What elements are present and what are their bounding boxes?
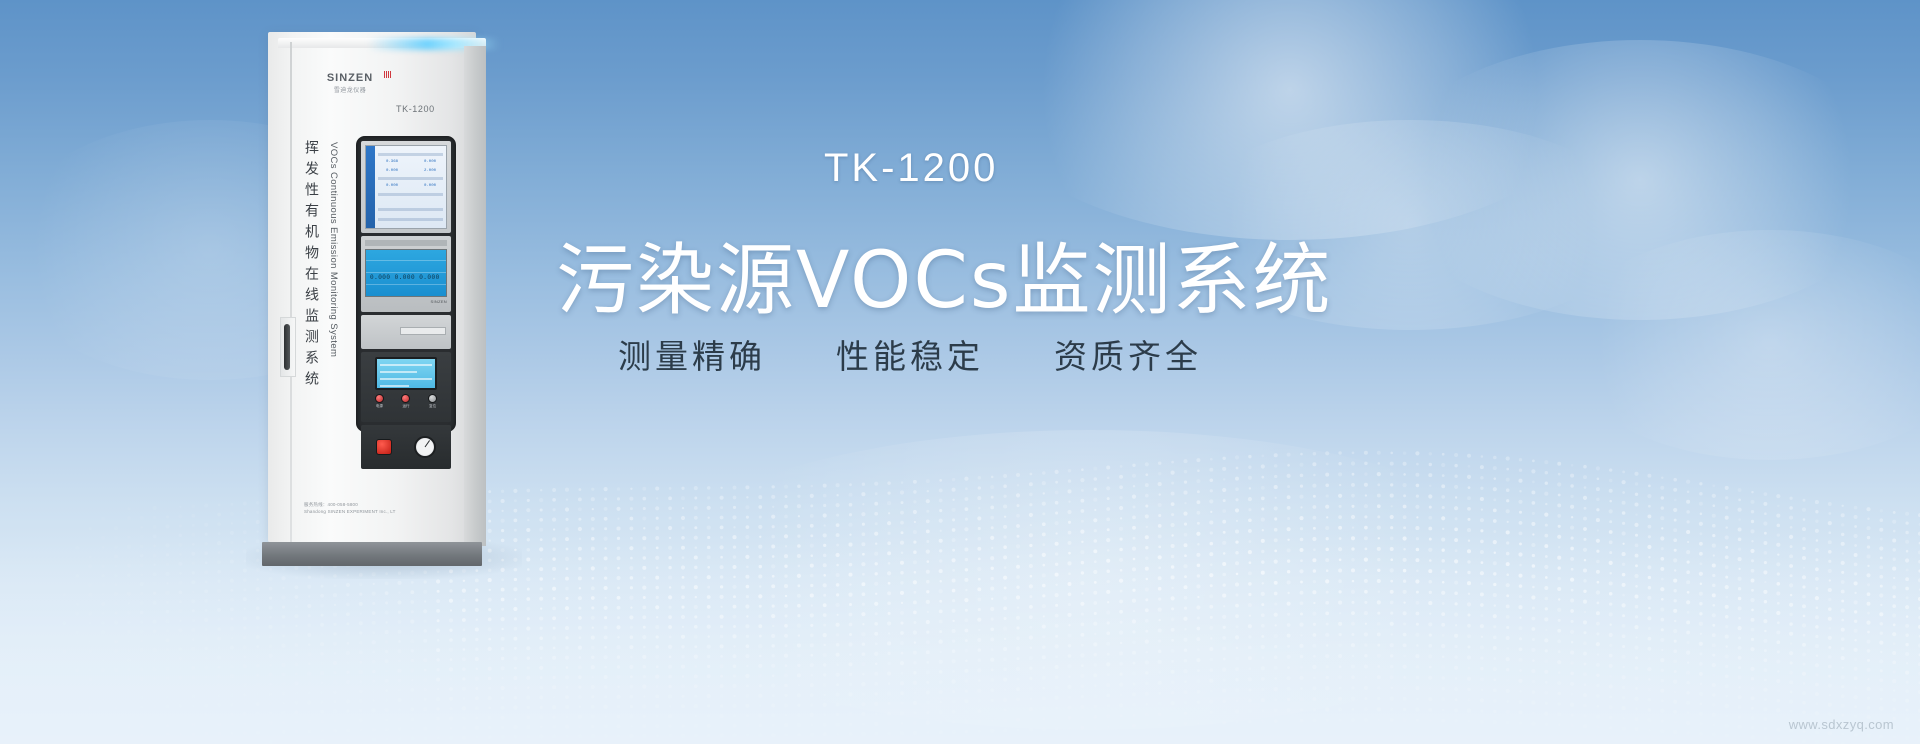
cabinet-brand-logo: SINZEN 雪迪龙仪器	[304, 72, 396, 94]
screen-value: 0.000	[424, 160, 436, 164]
screen-value: 0.000	[424, 184, 436, 188]
feature-tag-list: 测量精确 性能稳定 资质齐全	[618, 330, 1202, 378]
brand-subtitle: 雪迪龙仪器	[304, 85, 396, 94]
emergency-panel	[361, 425, 451, 469]
knob-label: 运行	[401, 404, 410, 409]
gas-analyzer-unit: 0.000 0.000 0.000 SINZEN	[361, 236, 451, 312]
emergency-stop-button[interactable]	[376, 439, 392, 455]
cabinet-footer-text: 服务热线：400-058-5800 Shandong SINZEN EXPERI…	[304, 502, 454, 516]
cabinet-right-edge	[464, 46, 486, 546]
site-watermark: www.sdxzyq.com	[1789, 717, 1894, 732]
cabinet-model-plate: TK-1200	[396, 104, 435, 114]
analyzer-readout: 0.000 0.000 0.000	[370, 274, 440, 281]
run-knob[interactable]	[401, 394, 410, 403]
knob-label: 复位	[428, 404, 437, 409]
instrument-screen-upper: 0.368 0.000 0.000 2.000 0.000 0.000	[365, 145, 447, 229]
screen-value: 0.000	[386, 184, 398, 188]
instrument-bay: 0.368 0.000 0.000 2.000 0.000 0.000	[356, 136, 456, 432]
feature-tag-certification: 资质齐全	[1054, 330, 1202, 378]
screen-value: 0.000	[386, 169, 398, 173]
cabinet-body: SINZEN 雪迪龙仪器 TK-1200 挥发性有机物在线监测系统 VOCs C…	[268, 32, 476, 542]
power-knob[interactable]	[375, 394, 384, 403]
screen-value: 0.368	[386, 160, 398, 164]
product-model-title: TK-1200	[824, 146, 998, 191]
analyzer-label-strip	[365, 240, 447, 246]
knob-label: 电源	[375, 404, 384, 409]
cabinet-footer-line-1: 服务热线：400-058-5800	[304, 502, 454, 509]
analyzer-brand-text: SINZEN	[365, 299, 447, 304]
product-cabinet-image: SINZEN 雪迪龙仪器 TK-1200 挥发性有机物在线监测系统 VOCs C…	[258, 22, 508, 567]
hero-banner: SINZEN 雪迪龙仪器 TK-1200 挥发性有机物在线监测系统 VOCs C…	[0, 0, 1920, 744]
module-slot	[400, 327, 446, 335]
analyzer-display: 0.000 0.000 0.000	[365, 249, 447, 297]
screen-sidebar	[366, 146, 375, 228]
cabinet-footer-line-2: Shandong SINZEN EXPERIMENT Inc., LT	[304, 509, 454, 516]
cabinet-door-handle	[284, 324, 290, 370]
cloud-decoration	[1560, 230, 1920, 460]
instrument-touch-panel: 0.368 0.000 0.000 2.000 0.000 0.000	[361, 141, 451, 233]
brand-name: SINZEN	[304, 72, 396, 84]
cabinet-vertical-text-cn: 挥发性有机物在线监测系统	[304, 140, 318, 392]
page-title: 污染源VOCs监测系统	[556, 218, 1332, 330]
blank-module	[361, 315, 451, 349]
hero-copy-block: TK-1200 污染源VOCs监测系统 测量精确 性能稳定 资质齐全	[556, 0, 1556, 744]
feature-tag-stability: 性能稳定	[836, 330, 984, 378]
brand-mark-icon	[384, 71, 392, 78]
cabinet-base-plinth	[262, 542, 482, 566]
pressure-gauge-icon	[414, 436, 436, 458]
screen-value: 2.000	[424, 169, 436, 173]
control-knob-row: 电源 运行 复位	[366, 394, 446, 409]
hmi-touchscreen	[375, 357, 437, 390]
control-panel: 电源 运行 复位	[361, 352, 451, 422]
cabinet-door-seam	[290, 42, 292, 550]
feature-tag-accuracy: 测量精确	[618, 330, 766, 378]
reset-knob[interactable]	[428, 394, 437, 403]
cabinet-vertical-text-en: VOCs Continuous Emission Monitoring Syst…	[328, 142, 339, 357]
